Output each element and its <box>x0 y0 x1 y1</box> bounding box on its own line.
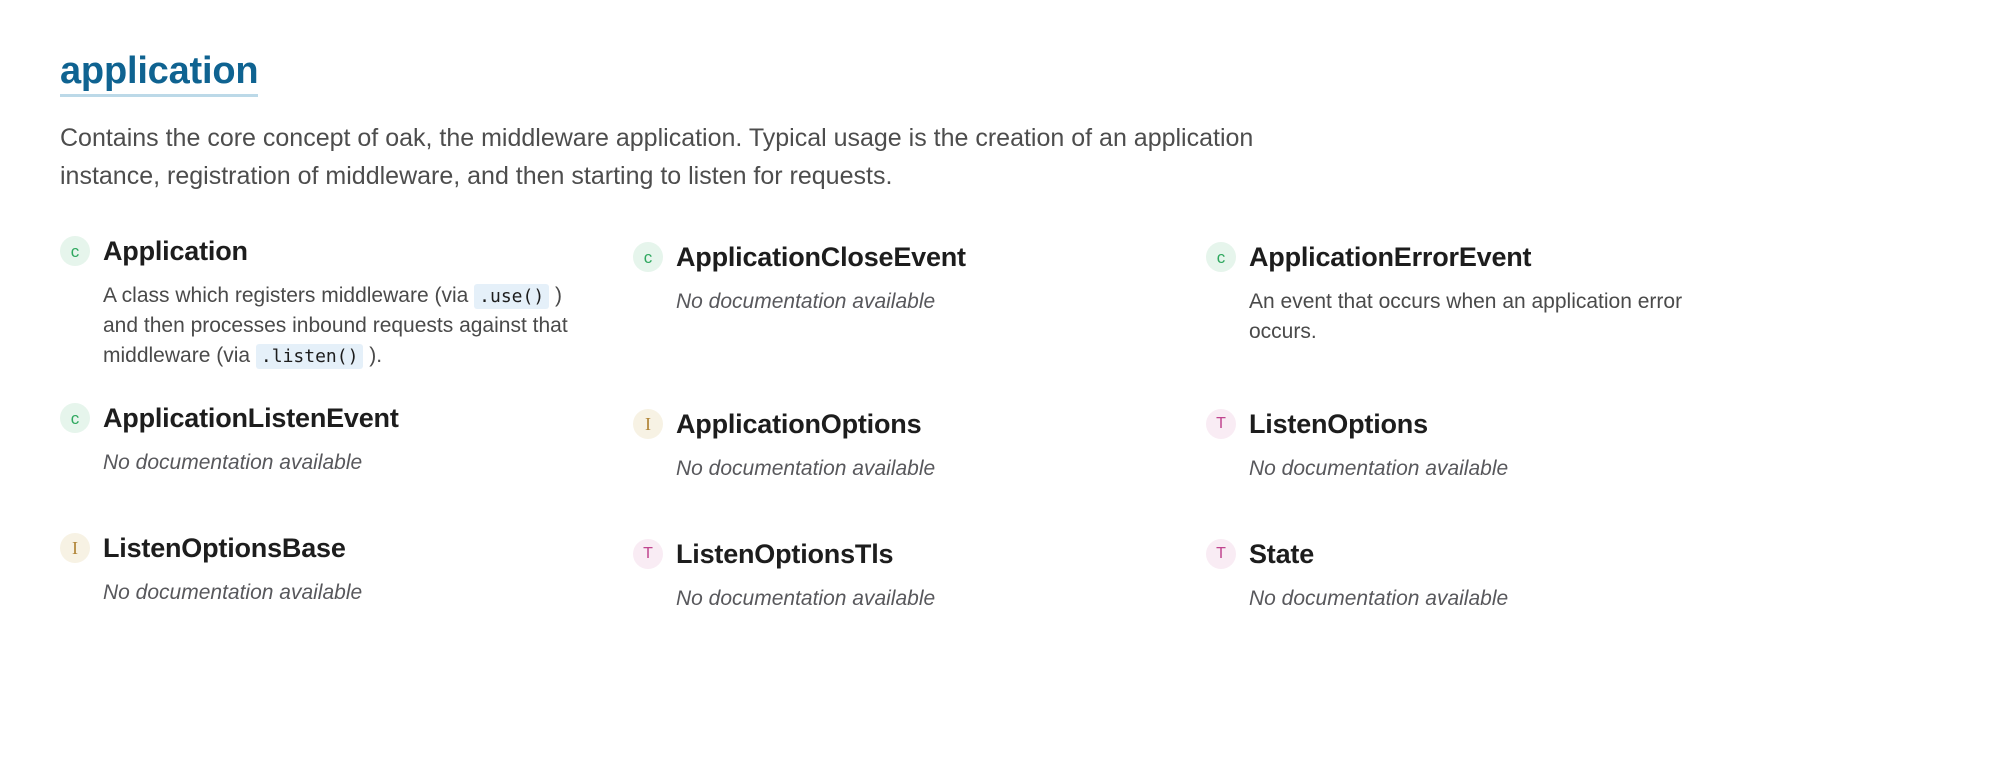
symbol-no-doc-label: No documentation available <box>103 578 578 608</box>
type-alias-badge-icon: T <box>1206 539 1236 569</box>
symbol-no-doc-label: No documentation available <box>103 448 578 478</box>
interface-badge-icon: I <box>60 533 90 563</box>
inline-code: .use() <box>474 284 549 309</box>
symbol-header: TListenOptions <box>1206 408 1739 440</box>
symbol-entry: TStateNo documentation available <box>1206 532 1779 662</box>
symbol-entry: cApplicationErrorEventAn event that occu… <box>1206 235 1779 402</box>
module-documentation-page: application Contains the core concept of… <box>0 0 2000 782</box>
symbol-name-link[interactable]: ApplicationErrorEvent <box>1249 241 1531 273</box>
symbol-no-doc-label: No documentation available <box>676 287 1151 317</box>
symbol-header: cApplicationErrorEvent <box>1206 241 1739 273</box>
symbol-header: cApplicationCloseEvent <box>633 241 1166 273</box>
symbol-description: An event that occurs when an application… <box>1249 287 1724 347</box>
symbol-no-doc-label: No documentation available <box>1249 454 1724 484</box>
symbol-header: cApplication <box>60 235 593 267</box>
symbol-name-link[interactable]: State <box>1249 538 1314 570</box>
module-name-link[interactable]: application <box>60 52 258 97</box>
class-badge-icon: c <box>60 236 90 266</box>
symbol-description: A class which registers middleware (via … <box>103 281 578 370</box>
symbol-entry: cApplicationListenEventNo documentation … <box>60 402 633 532</box>
symbol-header: TListenOptionsTls <box>633 538 1166 570</box>
symbol-no-doc-label: No documentation available <box>676 454 1151 484</box>
symbol-name-link[interactable]: ListenOptionsTls <box>676 538 893 570</box>
symbol-name-link[interactable]: Application <box>103 235 248 267</box>
symbol-name-link[interactable]: ApplicationListenEvent <box>103 402 399 434</box>
symbol-no-doc-label: No documentation available <box>1249 584 1724 614</box>
module-description: Contains the core concept of oak, the mi… <box>60 119 1350 195</box>
symbol-header: cApplicationListenEvent <box>60 402 593 434</box>
symbol-name-link[interactable]: ApplicationCloseEvent <box>676 241 966 273</box>
symbol-entry: IListenOptionsBaseNo documentation avail… <box>60 532 633 662</box>
inline-code: .listen() <box>256 344 364 369</box>
symbol-name-link[interactable]: ListenOptions <box>1249 408 1428 440</box>
type-alias-badge-icon: T <box>633 539 663 569</box>
class-badge-icon: c <box>1206 242 1236 272</box>
symbol-name-link[interactable]: ListenOptionsBase <box>103 532 346 564</box>
symbol-name-link[interactable]: ApplicationOptions <box>676 408 921 440</box>
symbol-entry: TListenOptionsTlsNo documentation availa… <box>633 532 1206 662</box>
symbol-header: TState <box>1206 538 1739 570</box>
symbol-header: IListenOptionsBase <box>60 532 593 564</box>
class-badge-icon: c <box>633 242 663 272</box>
symbol-entry: TListenOptionsNo documentation available <box>1206 402 1779 532</box>
symbol-entry: cApplicationA class which registers midd… <box>60 235 633 402</box>
page-title: application <box>60 52 258 97</box>
symbol-entry: cApplicationCloseEventNo documentation a… <box>633 235 1206 402</box>
type-alias-badge-icon: T <box>1206 409 1236 439</box>
symbol-grid: cApplicationA class which registers midd… <box>60 235 1940 662</box>
interface-badge-icon: I <box>633 409 663 439</box>
symbol-no-doc-label: No documentation available <box>676 584 1151 614</box>
symbol-entry: IApplicationOptionsNo documentation avai… <box>633 402 1206 532</box>
class-badge-icon: c <box>60 403 90 433</box>
symbol-header: IApplicationOptions <box>633 408 1166 440</box>
